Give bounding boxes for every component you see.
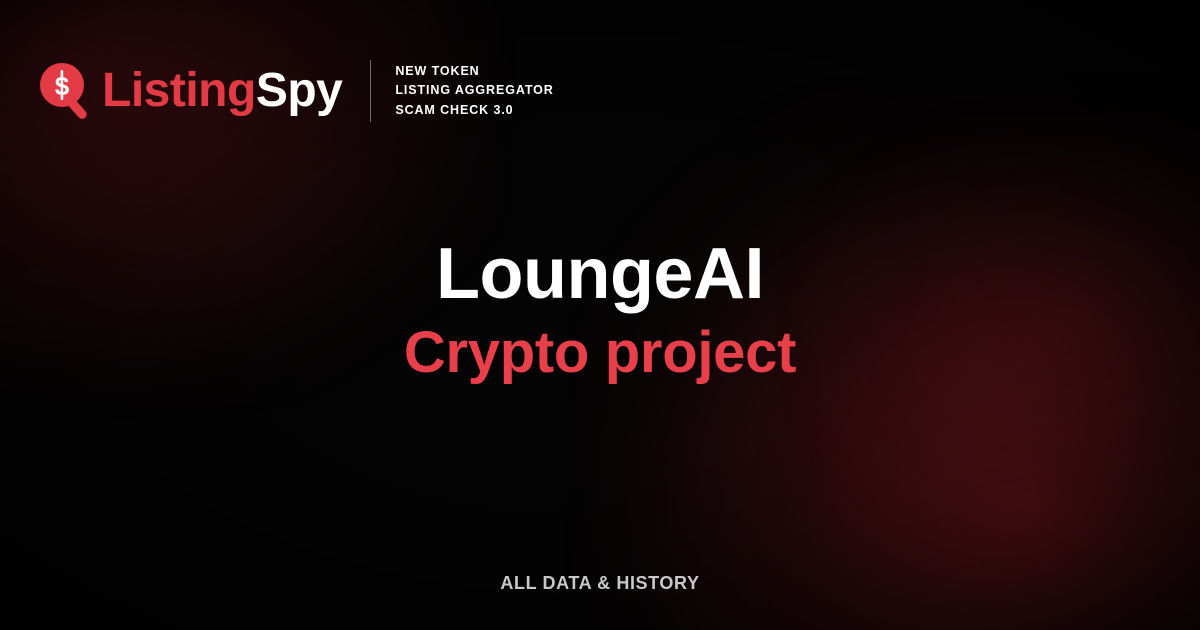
- magnifier-dollar-icon: $: [34, 59, 98, 123]
- brand-header[interactable]: $ ListingSpy NEW TOKEN LISTING AGGREGATO…: [34, 54, 554, 128]
- header-divider: [370, 60, 371, 122]
- hero-block: LoungeAI Crypto project: [0, 236, 1200, 386]
- tagline-line-2: LISTING AGGREGATOR: [395, 81, 553, 100]
- brand-wordmark-spy: Spy: [256, 64, 343, 117]
- tagline-line-1: NEW TOKEN: [395, 62, 553, 81]
- page-subtitle: Crypto project: [0, 320, 1200, 387]
- tagline-line-3: SCAM CHECK 3.0: [395, 101, 553, 120]
- page-title: LoungeAI: [0, 236, 1200, 314]
- brand-wordmark-listing: Listing: [102, 64, 256, 117]
- brand-wordmark: ListingSpy: [102, 67, 342, 115]
- banner-canvas: $ ListingSpy NEW TOKEN LISTING AGGREGATO…: [0, 0, 1200, 630]
- brand-tagline: NEW TOKEN LISTING AGGREGATOR SCAM CHECK …: [395, 62, 553, 120]
- footer-caption: ALL DATA & HISTORY: [0, 573, 1200, 594]
